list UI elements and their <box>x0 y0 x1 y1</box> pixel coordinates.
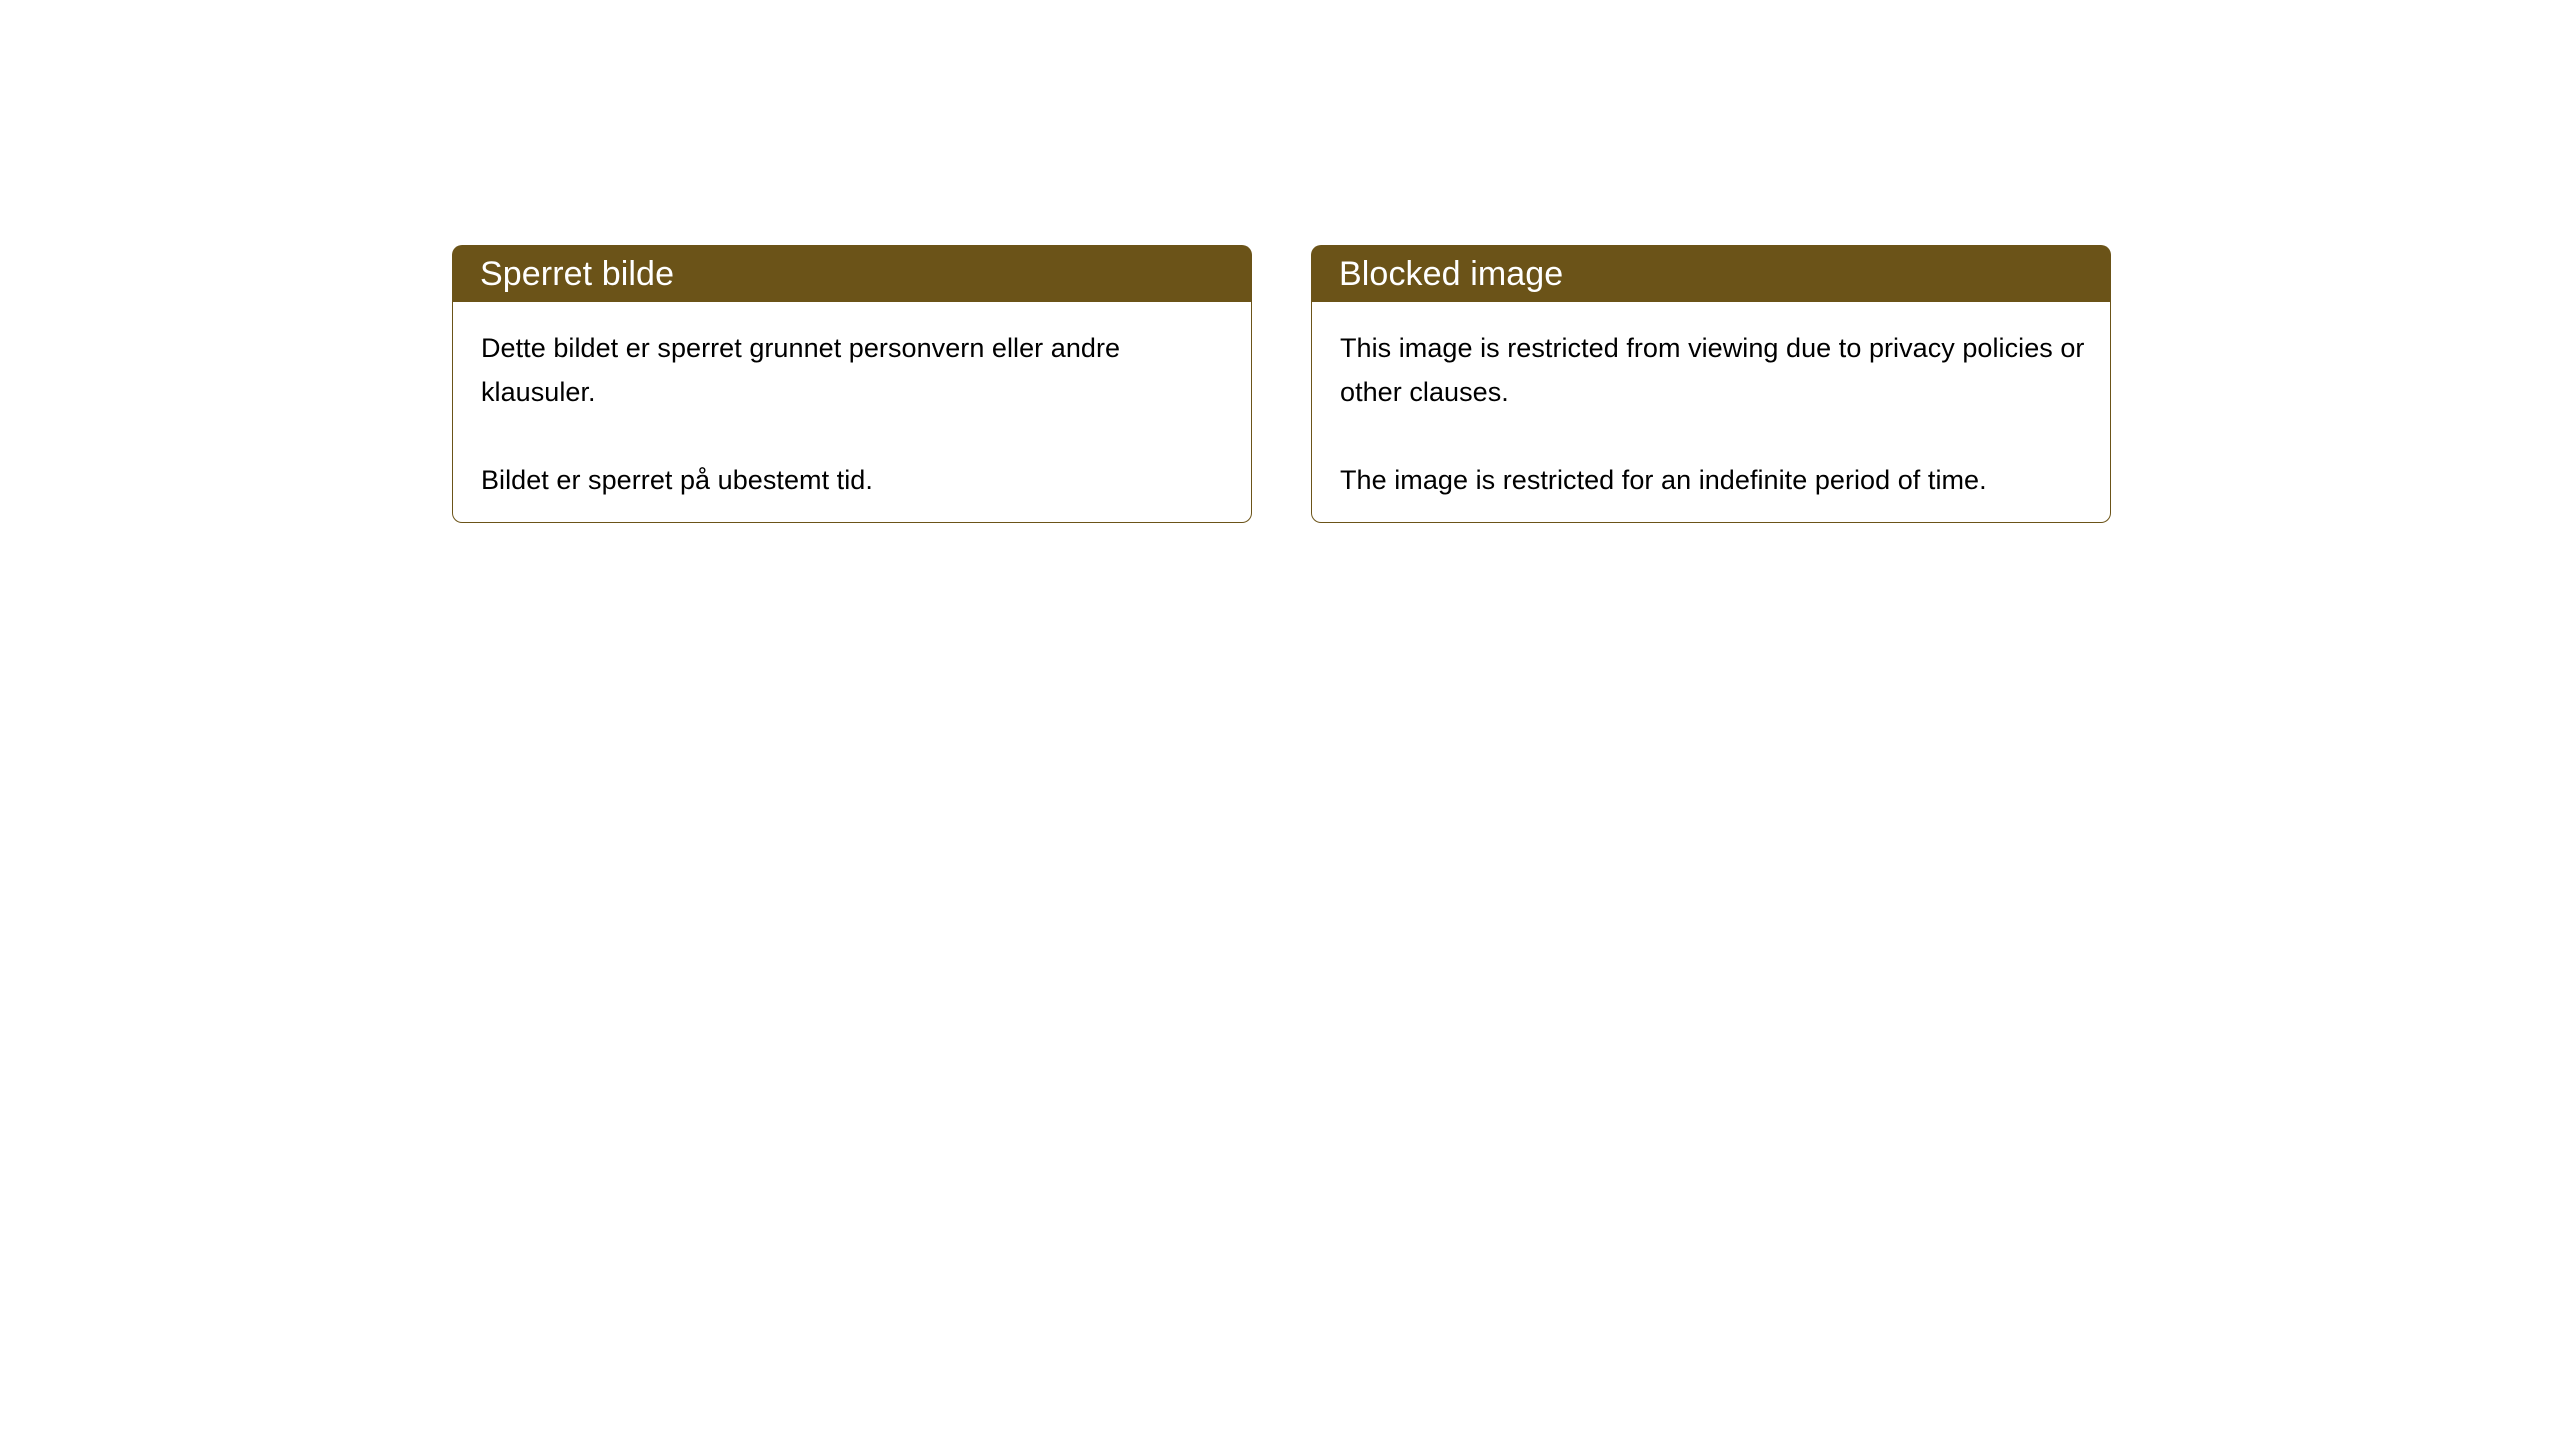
notice-paragraph-reason-no: Dette bildet er sperret grunnet personve… <box>481 326 1227 414</box>
blocked-image-notice-card-no: Sperret bilde Dette bildet er sperret gr… <box>452 245 1252 523</box>
notice-card-header-en: Blocked image <box>1311 245 2111 302</box>
notice-paragraph-reason-en: This image is restricted from viewing du… <box>1340 326 2086 414</box>
blocked-image-notice-group: Sperret bilde Dette bildet er sperret gr… <box>452 245 2111 523</box>
notice-card-title-en: Blocked image <box>1339 255 1563 293</box>
notice-paragraph-duration-no: Bildet er sperret på ubestemt tid. <box>481 458 1227 502</box>
notice-paragraph-duration-en: The image is restricted for an indefinit… <box>1340 458 2086 502</box>
notice-card-title-no: Sperret bilde <box>480 255 674 293</box>
notice-card-body-no: Dette bildet er sperret grunnet personve… <box>452 301 1252 523</box>
notice-card-body-en: This image is restricted from viewing du… <box>1311 301 2111 523</box>
blocked-image-notice-card-en: Blocked image This image is restricted f… <box>1311 245 2111 523</box>
notice-card-header-no: Sperret bilde <box>452 245 1252 302</box>
